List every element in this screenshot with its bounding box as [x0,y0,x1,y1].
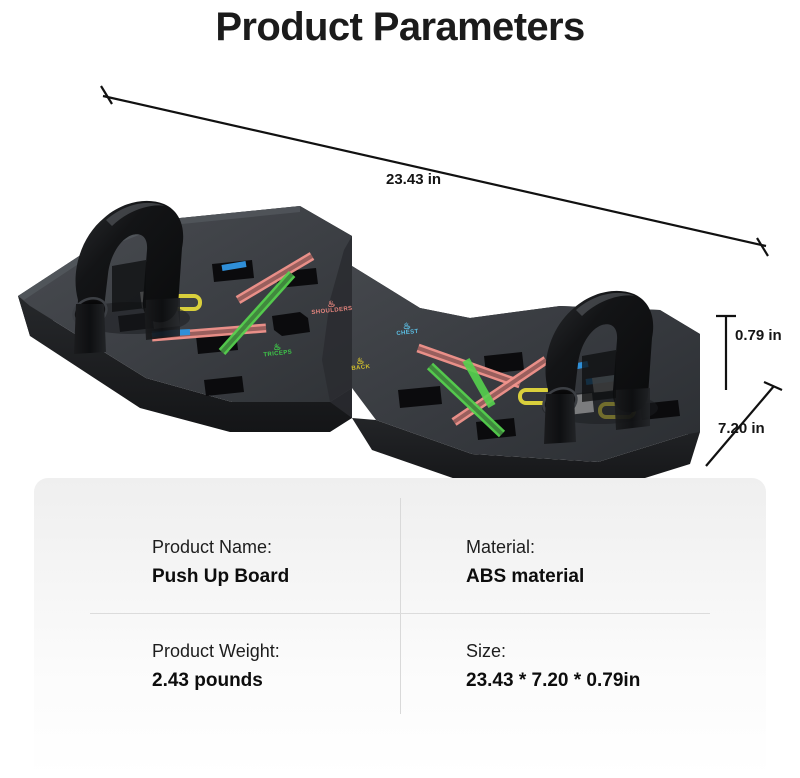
table-divider-horizontal [90,613,710,614]
page-title: Product Parameters [0,2,800,52]
spec-label: Product Weight: [152,638,400,664]
push-up-board-illustration [0,60,800,480]
dimension-label-height: 0.79 in [735,327,782,344]
spec-value: ABS material [466,563,766,591]
handle-left [69,201,190,354]
table-divider-vertical [400,498,401,714]
spec-label: Size: [466,638,766,664]
spec-card: Product Name: Push Up Board Material: AB… [34,478,766,778]
spec-cell-size: Size: 23.43 * 7.20 * 0.79in [400,614,766,718]
spec-value: 23.43 * 7.20 * 0.79in [466,667,766,695]
spec-table: Product Name: Push Up Board Material: AB… [34,478,766,728]
spec-cell-material: Material: ABS material [400,510,766,614]
spec-value: Push Up Board [152,563,400,591]
spec-cell-product-weight: Product Weight: 2.43 pounds [34,614,400,718]
muscle-label-chest: ♨ CHEST [395,321,419,337]
muscle-label-back: ♨ BACK [350,356,370,372]
dimension-label-length: 23.43 in [386,171,441,188]
spec-label: Product Name: [152,534,400,560]
product-figure: ♨ SHOULDERS ♨ TRICEPS ♨ CHEST ♨ BACK [0,60,800,480]
muscle-label-triceps: ♨ TRICEPS [262,342,292,359]
dimension-label-width: 7.20 in [718,420,765,437]
spec-value: 2.43 pounds [152,667,400,695]
spec-cell-product-name: Product Name: Push Up Board [34,510,400,614]
spec-label: Material: [466,534,766,560]
